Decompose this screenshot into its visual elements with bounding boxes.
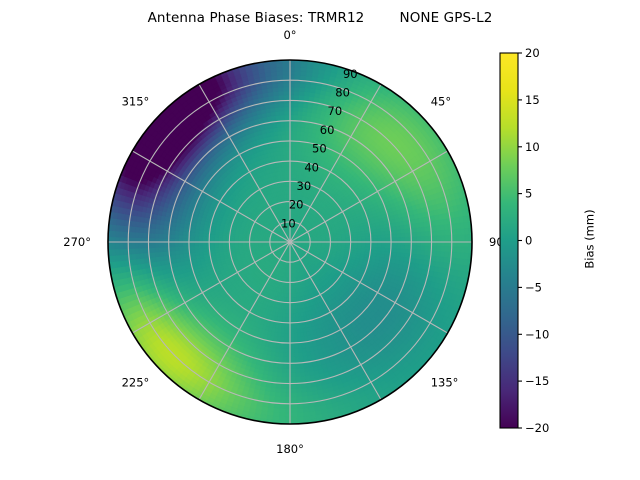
azimuth-tick-180: 180° bbox=[276, 442, 304, 456]
zenith-tick-80: 80 bbox=[335, 86, 350, 100]
zenith-tick-50: 50 bbox=[312, 142, 327, 156]
azimuth-tick-45: 45° bbox=[431, 94, 451, 108]
zenith-tick-60: 60 bbox=[320, 123, 335, 137]
zenith-tick-40: 40 bbox=[304, 160, 319, 174]
zenith-tick-90: 90 bbox=[343, 67, 358, 81]
colorbar-axis-label: Bias (mm) bbox=[583, 209, 597, 268]
azimuth-tick-225: 225° bbox=[122, 376, 150, 390]
colorbar-tick-10: 10 bbox=[525, 140, 540, 154]
colorbar-tick-neg15: −15 bbox=[525, 374, 549, 388]
colorbar-tick-neg10: −10 bbox=[525, 327, 549, 341]
zenith-tick-70: 70 bbox=[328, 104, 343, 118]
colorbar-tick-labels: 20151050−5−10−15−20 bbox=[518, 46, 549, 435]
azimuth-tick-270: 270° bbox=[63, 235, 91, 249]
zenith-tick-10: 10 bbox=[281, 216, 296, 230]
colorbar-tick-0: 0 bbox=[525, 234, 532, 248]
colorbar-tick-neg5: −5 bbox=[525, 280, 542, 294]
azimuth-tick-135: 135° bbox=[431, 376, 459, 390]
azimuth-tick-0: 0° bbox=[283, 28, 296, 42]
colorbar-tick-20: 20 bbox=[525, 46, 540, 60]
zenith-tick-20: 20 bbox=[289, 198, 304, 212]
colorbar-gradient bbox=[500, 53, 518, 428]
colorbar-tick-15: 15 bbox=[525, 93, 540, 107]
figure-canvas: Antenna Phase Biases: TRMR12 NONE GPS-L2… bbox=[0, 0, 640, 480]
polar-plot: 0°45°90135°180°225°270°315° 102030405060… bbox=[0, 0, 640, 480]
colorbar-tick-5: 5 bbox=[525, 187, 532, 201]
azimuth-tick-315: 315° bbox=[122, 94, 150, 108]
colorbar-tick-neg20: −20 bbox=[525, 421, 549, 435]
zenith-tick-30: 30 bbox=[297, 179, 312, 193]
